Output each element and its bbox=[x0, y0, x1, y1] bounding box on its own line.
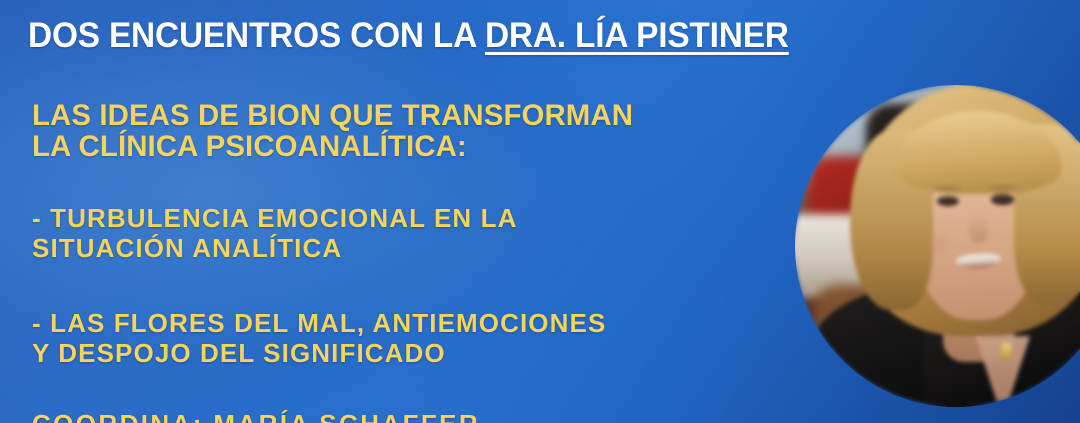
coordinator-line: COORDINA: MARÍA SCHAFFER bbox=[32, 409, 480, 423]
portrait-cheek bbox=[924, 230, 956, 256]
portrait-eyebrow-right bbox=[988, 185, 1017, 190]
bullet-2-line-1: - LAS FLORES DEL MAL, ANTIEMOCIONES bbox=[32, 308, 606, 338]
avatar bbox=[795, 85, 1080, 407]
portrait-image bbox=[795, 85, 1080, 407]
page-title: DOS ENCUENTROS CON LA DRA. LÍA PISTINER bbox=[28, 17, 789, 55]
subtitle-line-1: LAS IDEAS DE BION QUE TRANSFORMAN bbox=[32, 99, 633, 132]
bullet-2-line-2: Y DESPOJO DEL SIGNIFICADO bbox=[32, 338, 606, 368]
portrait-eye-right bbox=[991, 194, 1014, 204]
text-column: DOS ENCUENTROS CON LA DRA. LÍA PISTINER … bbox=[28, 0, 828, 423]
headline-speaker-name: DRA. LÍA PISTINER bbox=[485, 16, 789, 55]
bullet-1-line-2: SITUACIÓN ANALÍTICA bbox=[32, 233, 517, 263]
list-item: - LAS FLORES DEL MAL, ANTIEMOCIONES Y DE… bbox=[32, 308, 606, 368]
headline-prefix: DOS ENCUENTROS CON LA bbox=[28, 16, 485, 55]
subtitle: LAS IDEAS DE BION QUE TRANSFORMAN LA CLÍ… bbox=[32, 100, 633, 162]
list-item: - TURBULENCIA EMOCIONAL EN LA SITUACIÓN … bbox=[32, 203, 517, 263]
bullet-1-line-1: - TURBULENCIA EMOCIONAL EN LA bbox=[32, 203, 517, 233]
flyer-canvas: DOS ENCUENTROS CON LA DRA. LÍA PISTINER … bbox=[0, 0, 1080, 423]
subtitle-line-2: LA CLÍNICA PSICOANALÍTICA: bbox=[32, 131, 633, 162]
portrait-nose bbox=[969, 214, 988, 243]
